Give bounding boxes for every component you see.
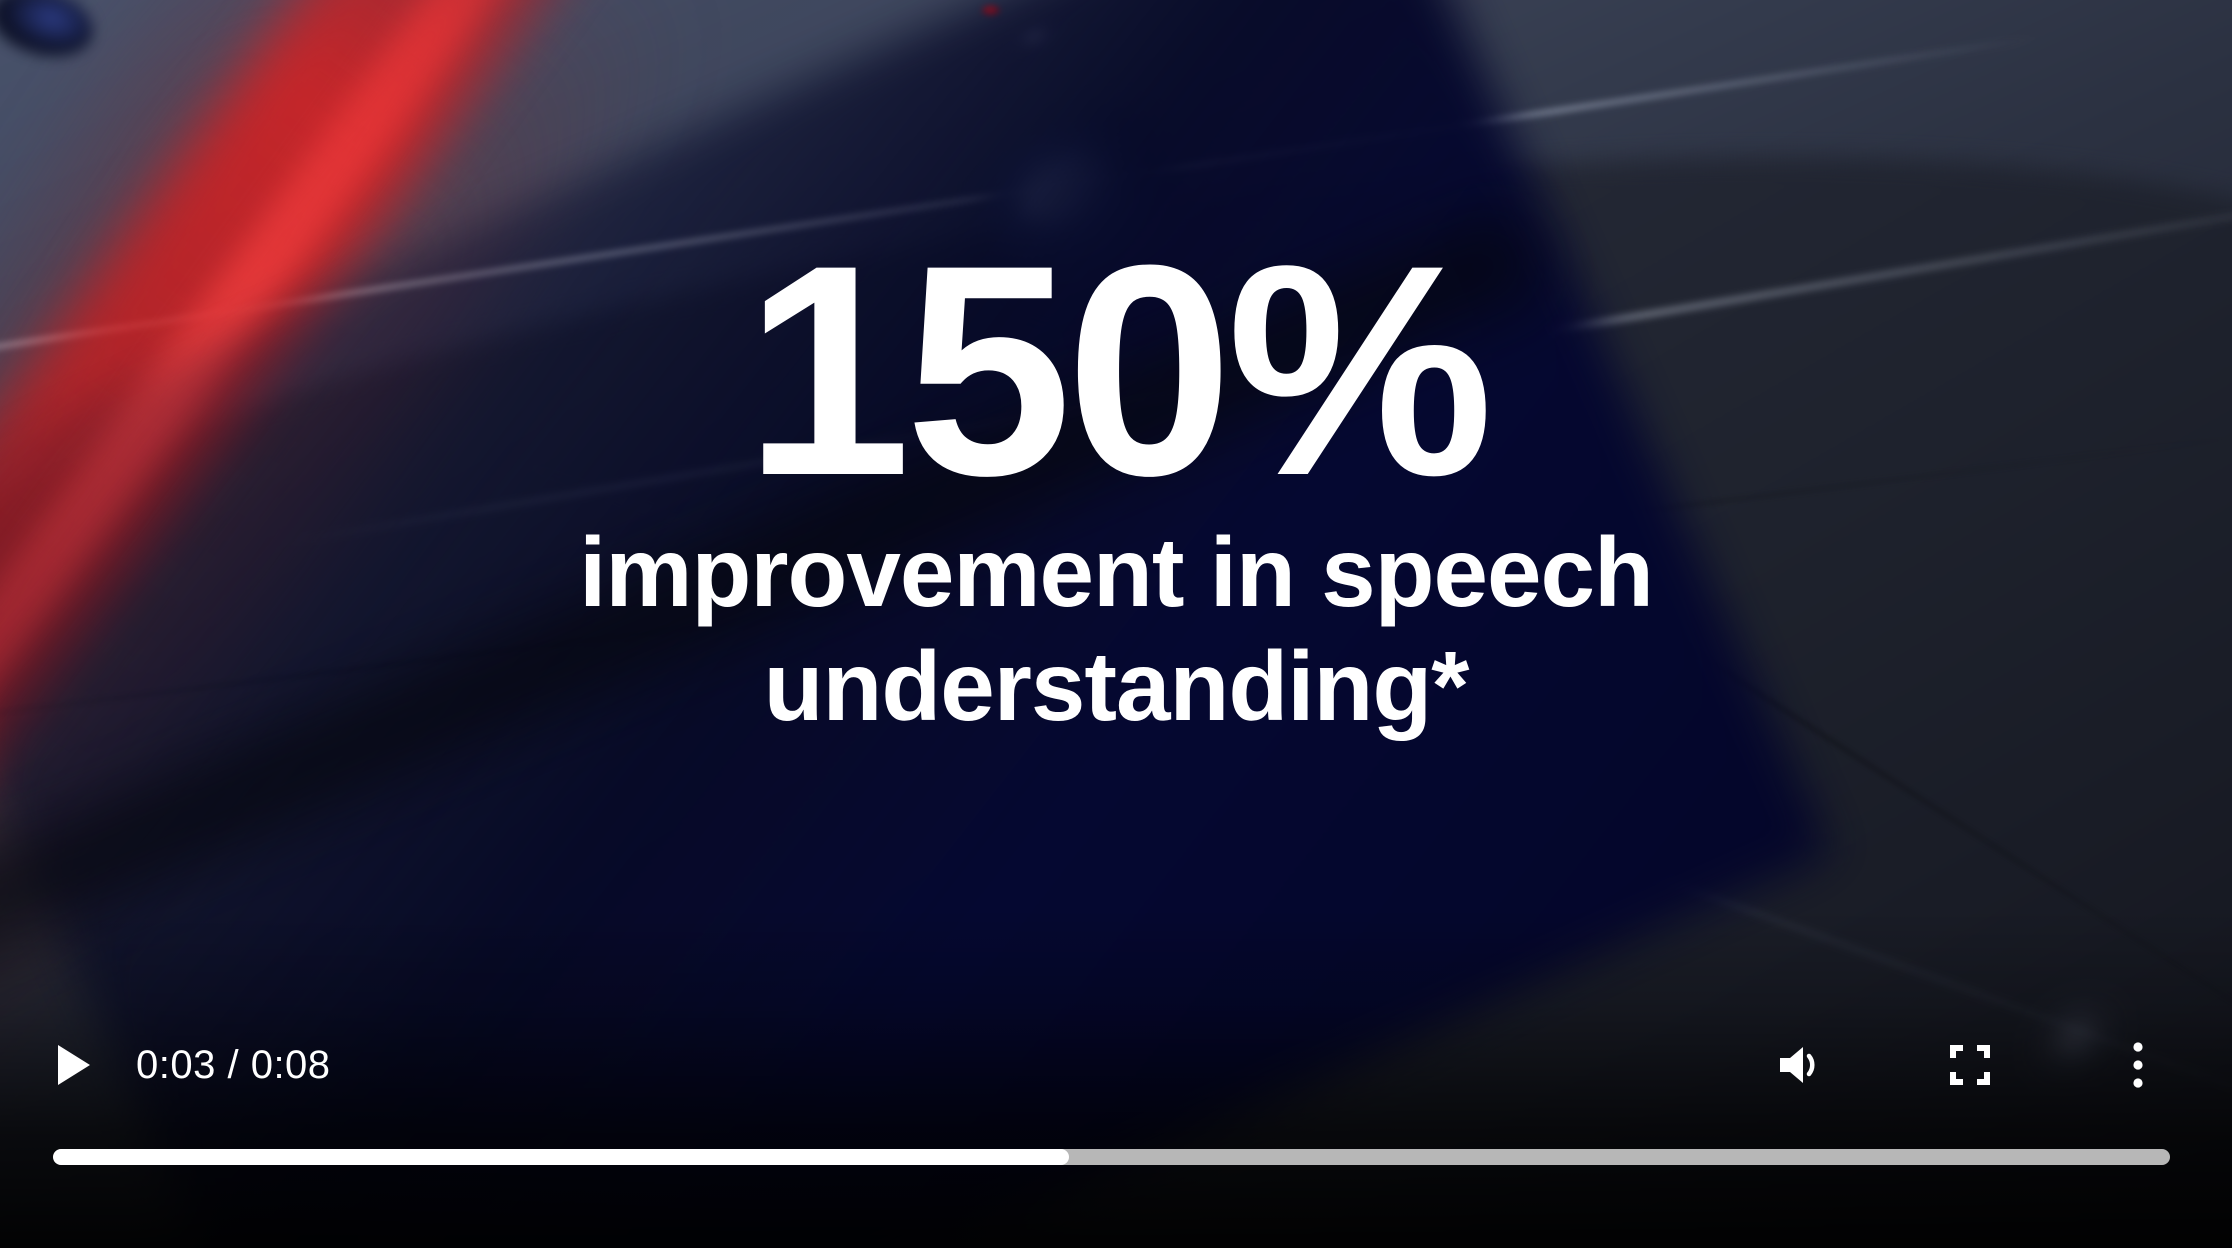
mute-button[interactable] [1774, 1037, 1830, 1093]
more-options-button[interactable] [2110, 1037, 2166, 1093]
progress-bar[interactable] [53, 1146, 2170, 1168]
progress-track[interactable] [53, 1149, 2170, 1165]
vertical-dots-icon [2130, 1041, 2146, 1089]
player-controls[interactable]: 0:03 / 0:08 [0, 1000, 2232, 1248]
video-player[interactable]: 150% improvement in speech understanding… [0, 0, 2232, 1248]
play-triangle-icon [54, 1043, 94, 1087]
volume-speaker-icon [1777, 1043, 1827, 1087]
controls-right-group [1774, 1037, 2166, 1093]
play-button[interactable] [46, 1037, 102, 1093]
control-button-row: 0:03 / 0:08 [0, 1000, 2232, 1130]
time-display: 0:03 / 0:08 [136, 1043, 331, 1088]
controls-left-group: 0:03 / 0:08 [46, 1037, 331, 1093]
progress-played [53, 1149, 1069, 1165]
fullscreen-corners-icon [1948, 1043, 1992, 1087]
fullscreen-button[interactable] [1942, 1037, 1998, 1093]
